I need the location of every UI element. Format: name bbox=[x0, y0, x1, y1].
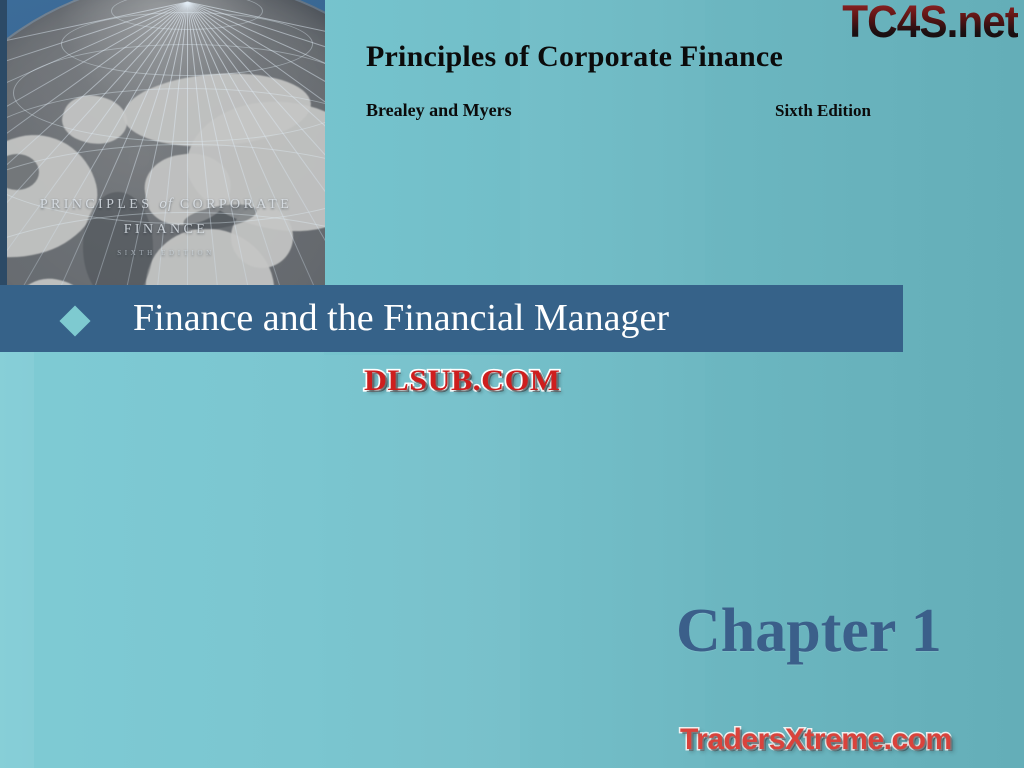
book-edition: Sixth Edition bbox=[775, 101, 871, 121]
book-cover-image: PRINCIPLES of CORPORATE FINANCE SIXTH ED… bbox=[7, 0, 325, 285]
cover-title-of: of bbox=[159, 196, 173, 212]
presentation-slide: PRINCIPLES of CORPORATE FINANCE SIXTH ED… bbox=[0, 0, 1024, 768]
slide-title: Finance and the Financial Manager bbox=[133, 296, 669, 340]
cover-title-line2: FINANCE bbox=[7, 222, 325, 238]
left-edge-strip bbox=[0, 0, 7, 287]
background-band-two bbox=[324, 355, 520, 768]
cover-edition-line: SIXTH EDITION bbox=[7, 249, 325, 257]
cover-title-principles: PRINCIPLES bbox=[40, 197, 159, 212]
cover-title-corporate: CORPORATE bbox=[173, 197, 292, 212]
book-title: Principles of Corporate Finance bbox=[366, 40, 783, 74]
watermark-tc4s: TC4S.net bbox=[842, 0, 1018, 48]
globe-graphic bbox=[7, 0, 325, 285]
watermark-dlsub: DLSUB.COM bbox=[364, 364, 560, 398]
globe-rim bbox=[7, 0, 325, 285]
watermark-tradersxtreme: TradersXtreme.com bbox=[680, 723, 952, 757]
book-authors: Brealey and Myers bbox=[366, 100, 512, 121]
cover-title-line1: PRINCIPLES of CORPORATE bbox=[7, 196, 325, 213]
chapter-label: Chapter 1 bbox=[676, 596, 942, 667]
